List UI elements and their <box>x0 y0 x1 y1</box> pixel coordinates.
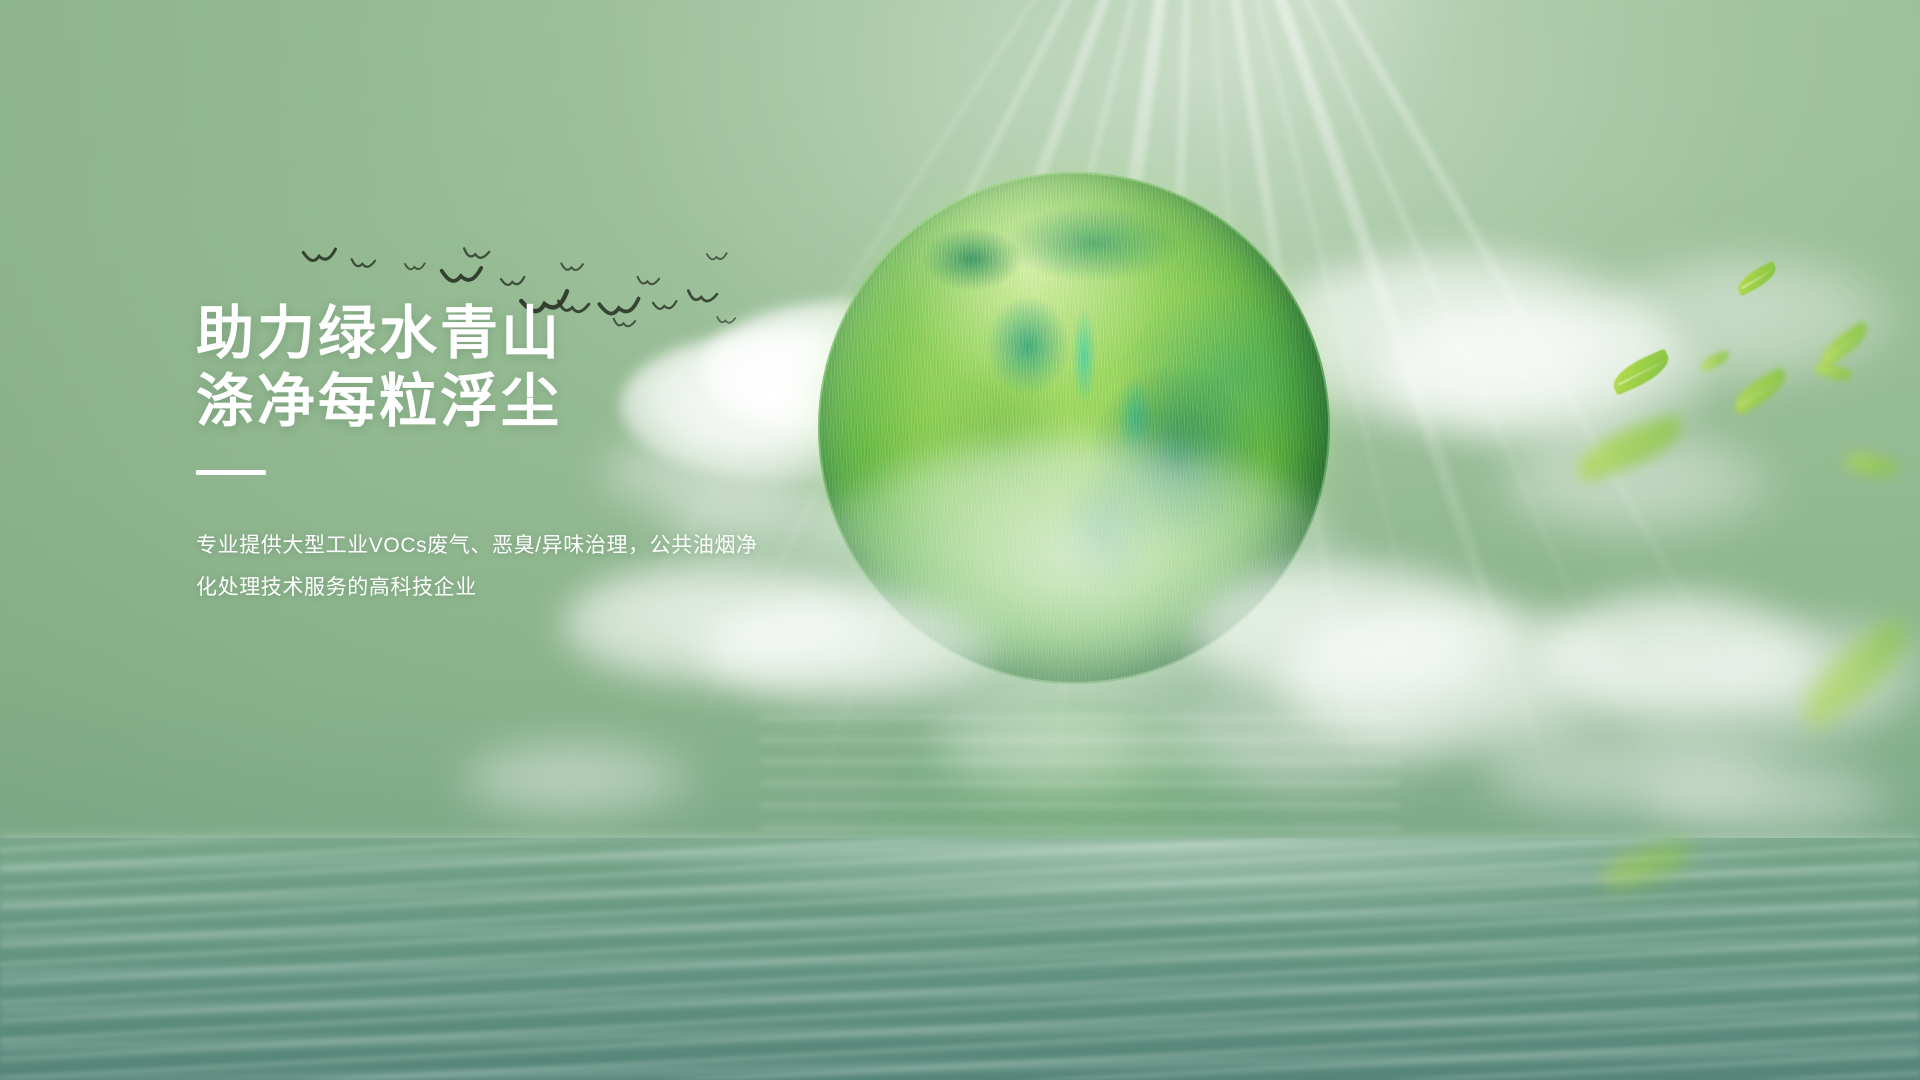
water-surface <box>0 838 1920 1080</box>
headline-block: 助力绿水青山 涤净每粒浮尘 专业提供大型工业VOCs废气、恶臭/异味治理，公共油… <box>196 300 956 609</box>
banner-stage: 助力绿水青山 涤净每粒浮尘 专业提供大型工业VOCs废气、恶臭/异味治理，公共油… <box>0 0 1920 1080</box>
subcopy-block: 专业提供大型工业VOCs废气、恶臭/异味治理，公共油烟净 化处理技术服务的高科技… <box>196 525 896 609</box>
subcopy-line-1: 专业提供大型工业VOCs废气、恶臭/异味治理，公共油烟净 <box>196 525 896 567</box>
headline-line-2: 涤净每粒浮尘 <box>196 368 956 436</box>
subcopy-line-2: 化处理技术服务的高科技企业 <box>196 567 896 609</box>
headline-line-1: 助力绿水青山 <box>196 300 956 368</box>
headline-divider <box>196 470 266 475</box>
water-sheen <box>0 838 1920 1080</box>
